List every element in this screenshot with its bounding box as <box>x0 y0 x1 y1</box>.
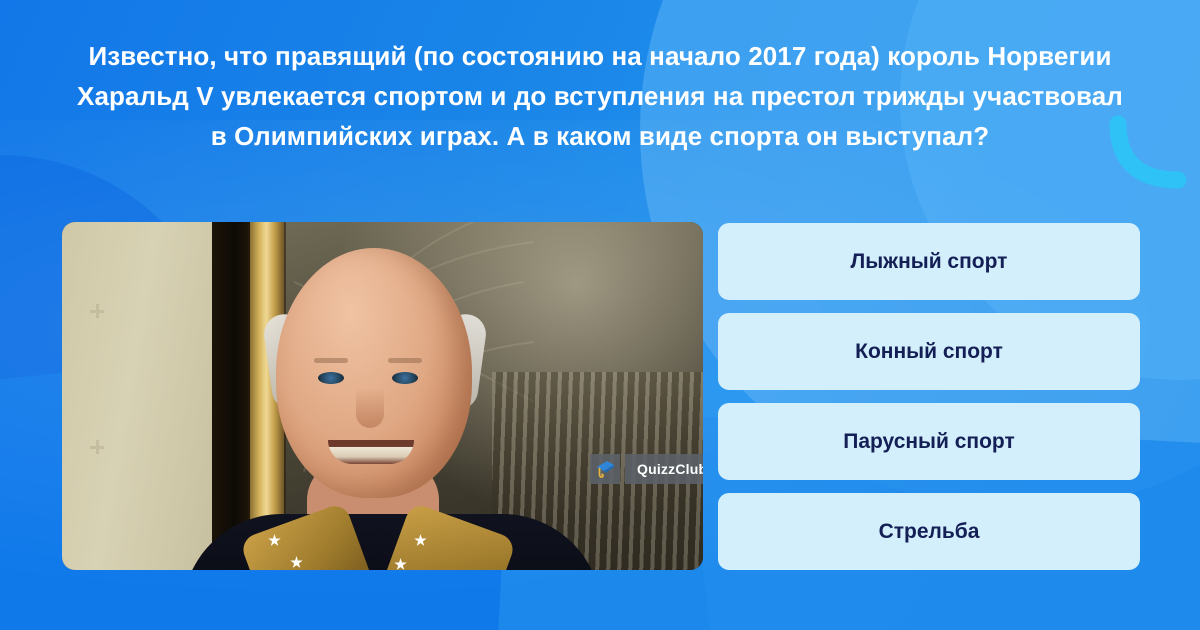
answer-option-2[interactable]: Конный спорт <box>718 313 1140 390</box>
watermark-label: QuizzClub <box>625 454 703 484</box>
quiz-card: Известно, что правящий (по состоянию на … <box>0 0 1200 630</box>
photo-subject-mouth <box>328 440 414 464</box>
watermark: QuizzClub <box>590 454 703 484</box>
answer-option-4[interactable]: Стрельба <box>718 493 1140 570</box>
graduation-cap-icon <box>590 454 620 484</box>
answer-option-1[interactable]: Лыжный спорт <box>718 223 1140 300</box>
photo-subject-eye-right <box>392 372 418 384</box>
photo-dark-strip <box>212 222 254 570</box>
photo-wall <box>62 222 212 570</box>
photo-subject-brow-right <box>388 358 422 363</box>
answer-list: Лыжный спорт Конный спорт Парусный спорт… <box>718 223 1140 570</box>
question-image: QuizzClub <box>62 222 703 570</box>
photo-subject-brow-left <box>314 358 348 363</box>
photo-subject-nose <box>356 388 384 428</box>
photo-subject-eye-left <box>318 372 344 384</box>
question-text: Известно, что правящий (по состоянию на … <box>70 36 1130 156</box>
photo-illustration <box>62 222 703 570</box>
answer-option-3[interactable]: Парусный спорт <box>718 403 1140 480</box>
